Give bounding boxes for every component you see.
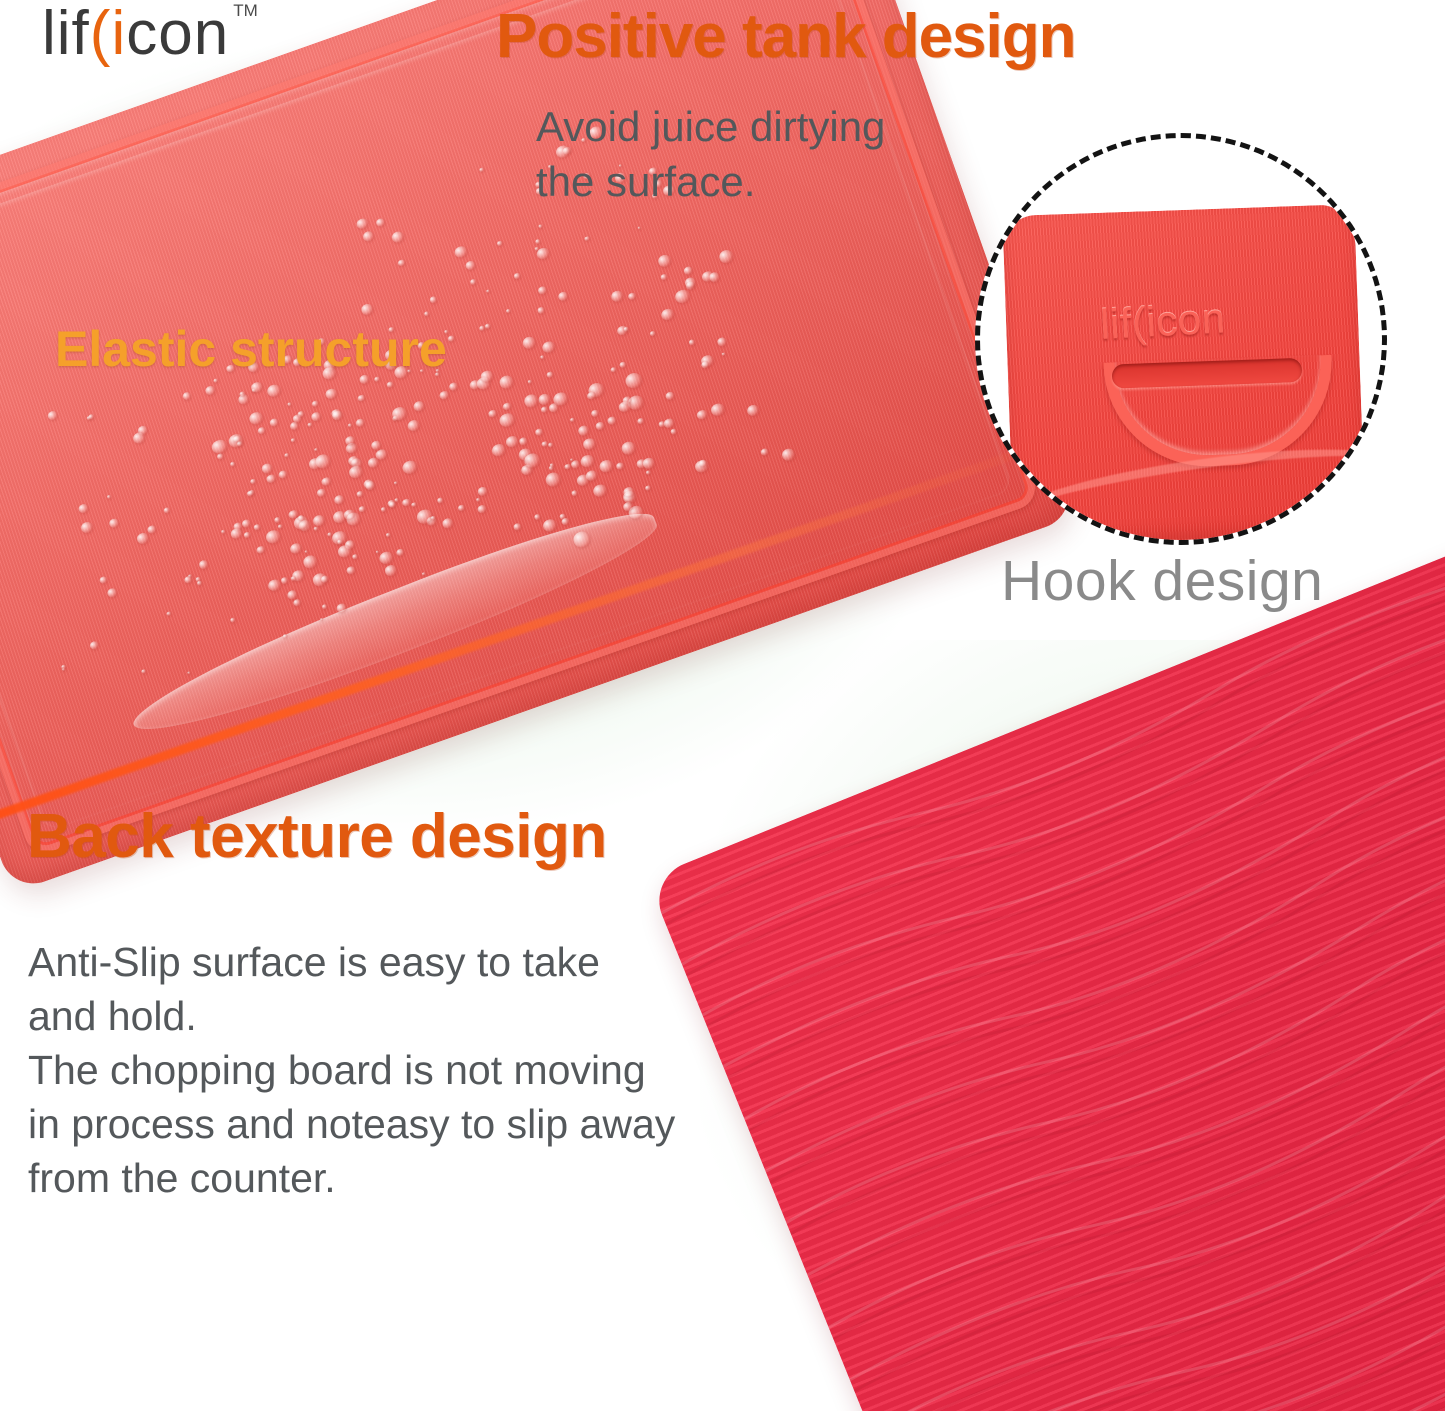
trademark-mark: TM	[233, 1, 258, 20]
heading-back-texture-design: Back texture design	[27, 806, 607, 868]
overlay-label-elastic-structure: Elastic structure	[55, 324, 447, 374]
anti-slip-wave-texture	[647, 500, 1445, 1411]
cutting-board-back-photo	[647, 500, 1445, 1411]
embossed-logo-on-hook: lif(icon	[1099, 297, 1226, 346]
body-text-anti-slip: Anti-Slip surface is easy to take and ho…	[28, 935, 718, 1206]
product-infographic: Elastic structure lif(iconTM Positive ta…	[0, 0, 1445, 1411]
logo-text-con: con	[126, 0, 229, 68]
logo-letter-i: i	[111, 0, 126, 68]
caption-hook-design: Hook design	[1001, 553, 1323, 610]
logo-paren-icon: (	[90, 0, 112, 68]
heading-positive-tank-design: Positive tank design	[496, 6, 1076, 68]
hook-board-corner: lif(icon	[1002, 204, 1365, 545]
logo-text-lif: lif	[42, 0, 90, 68]
brand-logo: lif(iconTM	[42, 3, 254, 65]
hook-detail-inset: lif(icon	[975, 133, 1387, 545]
body-text-avoid-juice: Avoid juice dirtying the surface.	[536, 100, 956, 209]
